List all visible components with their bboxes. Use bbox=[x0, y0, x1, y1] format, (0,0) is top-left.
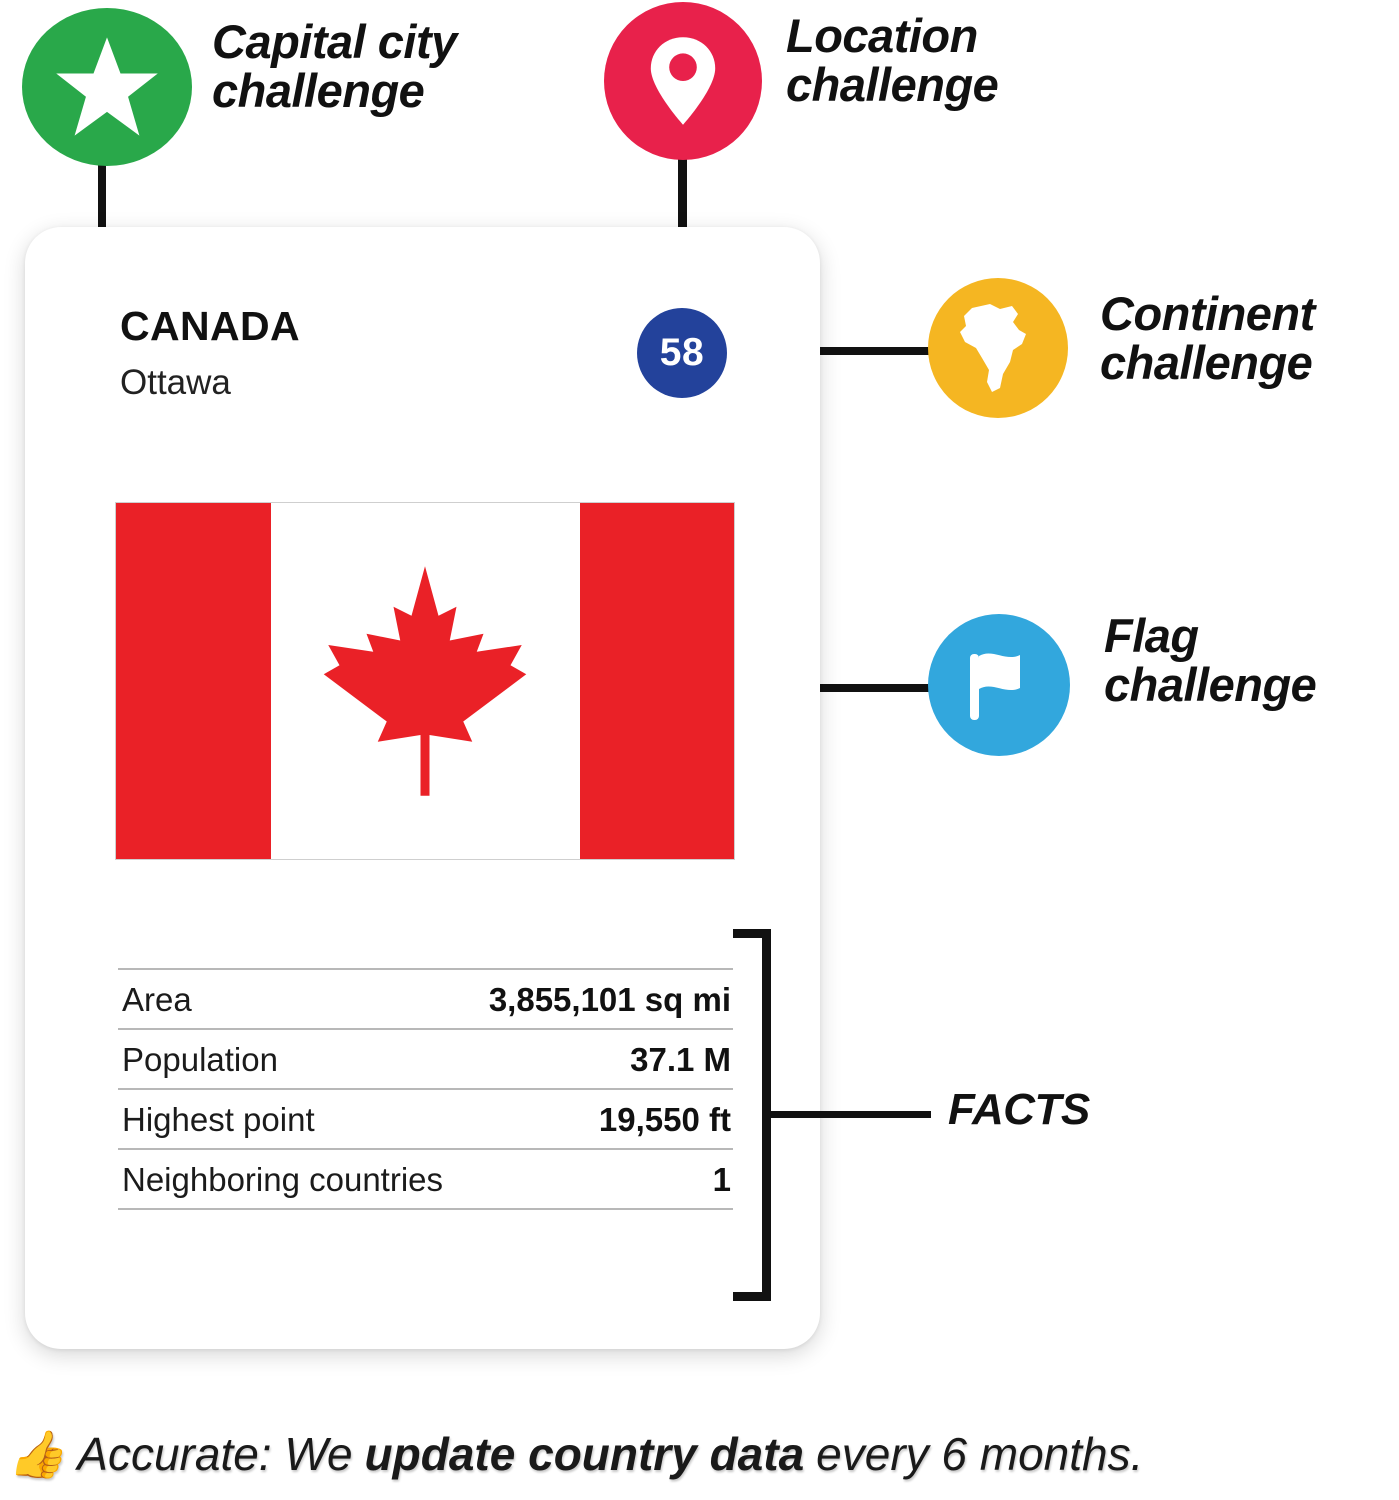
location-count-value: 58 bbox=[660, 331, 704, 375]
table-row: Area 3,855,101 sq mi bbox=[118, 968, 733, 1028]
caption-part-bold: update country data bbox=[365, 1427, 805, 1481]
table-row: Highest point 19,550 ft bbox=[118, 1088, 733, 1148]
fact-label: Neighboring countries bbox=[122, 1161, 443, 1199]
location-challenge-label: Location challenge bbox=[786, 12, 1116, 110]
infographic-canvas: CANADA Ottawa Area 3,855,101 sq mi Popul… bbox=[0, 0, 1399, 1500]
facts-label: FACTS bbox=[948, 1085, 1090, 1135]
fact-value: 37.1 M bbox=[630, 1041, 731, 1079]
caption-part-1: Accurate: We bbox=[77, 1427, 352, 1481]
fact-value: 3,855,101 sq mi bbox=[489, 981, 731, 1019]
thumbs-up-icon: 👍 bbox=[8, 1431, 65, 1477]
capital-city-name: Ottawa bbox=[120, 363, 231, 403]
capital-city-challenge-icon[interactable] bbox=[22, 8, 192, 166]
location-challenge-icon[interactable] bbox=[604, 2, 762, 160]
maple-leaf-icon bbox=[313, 556, 538, 806]
flag-band-left bbox=[116, 503, 271, 859]
map-pin-icon bbox=[648, 35, 718, 127]
flag-band-right bbox=[580, 503, 735, 859]
canada-flag bbox=[115, 502, 735, 860]
continent-challenge-label: Continent challenge bbox=[1100, 290, 1399, 388]
location-count-badge[interactable]: 58 bbox=[637, 308, 727, 398]
facts-bracket bbox=[733, 929, 771, 1301]
location-label-line2: challenge bbox=[786, 61, 1116, 110]
accuracy-caption: 👍 Accurate: We update country data every… bbox=[8, 1427, 1399, 1481]
fact-label: Area bbox=[122, 981, 192, 1019]
flag-label-line2: challenge bbox=[1104, 661, 1399, 710]
continent-label-line2: challenge bbox=[1100, 339, 1399, 388]
facts-leader-line bbox=[771, 1111, 931, 1118]
capital-city-challenge-label: Capital city challenge bbox=[212, 18, 572, 116]
continent-challenge-icon[interactable] bbox=[928, 278, 1068, 418]
flag-icon bbox=[960, 642, 1038, 728]
flag-label-line1: Flag bbox=[1104, 612, 1399, 661]
flag-challenge-label: Flag challenge bbox=[1104, 612, 1399, 710]
flag-challenge-icon[interactable] bbox=[928, 614, 1070, 756]
star-icon bbox=[53, 35, 161, 139]
table-row: Population 37.1 M bbox=[118, 1028, 733, 1088]
caption-part-2: every 6 months. bbox=[816, 1427, 1143, 1481]
table-row: Neighboring countries 1 bbox=[118, 1148, 733, 1210]
capital-city-label-line2: challenge bbox=[212, 67, 572, 116]
fact-label: Highest point bbox=[122, 1101, 315, 1139]
fact-value: 19,550 ft bbox=[599, 1101, 731, 1139]
fact-value: 1 bbox=[713, 1161, 731, 1199]
facts-table: Area 3,855,101 sq mi Population 37.1 M H… bbox=[118, 968, 733, 1210]
country-name: CANADA bbox=[120, 303, 300, 350]
fact-label: Population bbox=[122, 1041, 278, 1079]
capital-city-label-line1: Capital city bbox=[212, 18, 572, 67]
location-label-line1: Location bbox=[786, 12, 1116, 61]
continent-label-line1: Continent bbox=[1100, 290, 1399, 339]
africa-continent-icon bbox=[956, 300, 1040, 396]
